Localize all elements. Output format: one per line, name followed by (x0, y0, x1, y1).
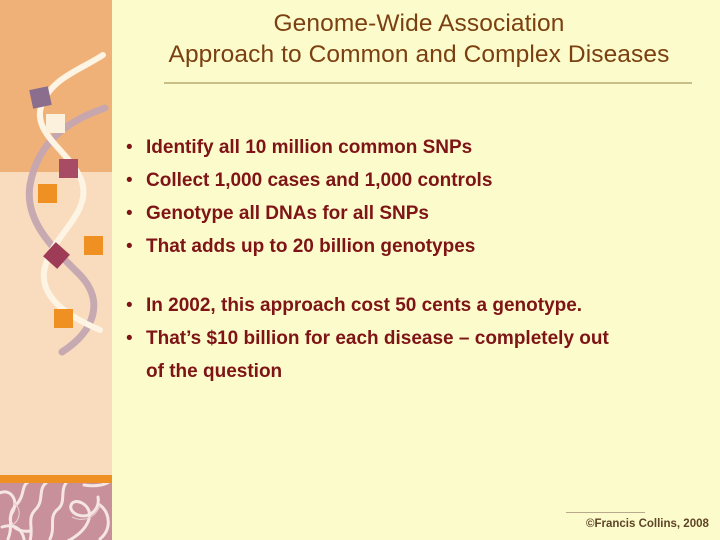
bullet-marker-icon: • (124, 322, 146, 355)
bullet-marker-icon: • (124, 197, 146, 230)
bullet-marker-icon: • (124, 289, 146, 322)
bullet-text: That’s $10 billion for each disease – co… (146, 322, 609, 388)
dna-double-helix-icon (0, 0, 112, 480)
helix-node-purple (29, 86, 52, 109)
footer-divider (566, 512, 645, 513)
bullet-group-1: • Identify all 10 million common SNPs • … (124, 131, 709, 263)
bullet-group-2: • In 2002, this approach cost 50 cents a… (124, 289, 709, 388)
bullet-content: • Identify all 10 million common SNPs • … (124, 131, 709, 388)
bullet-text: In 2002, this approach cost 50 cents a g… (146, 289, 582, 322)
sidebar-swirl-texture (0, 483, 112, 540)
sidebar-orange-band (0, 475, 112, 483)
title-divider (164, 82, 692, 84)
helix-node-magenta (59, 159, 78, 178)
helix-node-orange-2 (84, 236, 103, 255)
bullet-marker-icon: • (124, 164, 146, 197)
helix-node-orange-1 (38, 184, 57, 203)
swirl-pattern-icon (0, 483, 112, 540)
bullet-marker-icon: • (124, 131, 146, 164)
bullet-text: Genotype all DNAs for all SNPs (146, 197, 429, 230)
helix-node-cream (46, 114, 65, 133)
bullet-item: • Identify all 10 million common SNPs (124, 131, 709, 164)
bullet-text: That adds up to 20 billion genotypes (146, 230, 475, 263)
helix-node-orange-3 (54, 309, 73, 328)
footer-credit: ©Francis Collins, 2008 (586, 518, 709, 530)
title-line-2: Approach to Common and Complex Diseases (130, 39, 708, 70)
bullet-item: • Genotype all DNAs for all SNPs (124, 197, 709, 230)
bullet-text: Collect 1,000 cases and 1,000 controls (146, 164, 492, 197)
slide-canvas: Genome-Wide Association Approach to Comm… (0, 0, 720, 540)
bullet-item: • That’s $10 billion for each disease – … (124, 322, 709, 388)
bullet-item: • Collect 1,000 cases and 1,000 controls (124, 164, 709, 197)
bullet-item: • In 2002, this approach cost 50 cents a… (124, 289, 709, 322)
slide-title: Genome-Wide Association Approach to Comm… (130, 8, 708, 70)
decorative-sidebar (0, 0, 112, 540)
bullet-marker-icon: • (124, 230, 146, 263)
title-line-1: Genome-Wide Association (130, 8, 708, 39)
bullet-item: • That adds up to 20 billion genotypes (124, 230, 709, 263)
bullet-text: Identify all 10 million common SNPs (146, 131, 472, 164)
